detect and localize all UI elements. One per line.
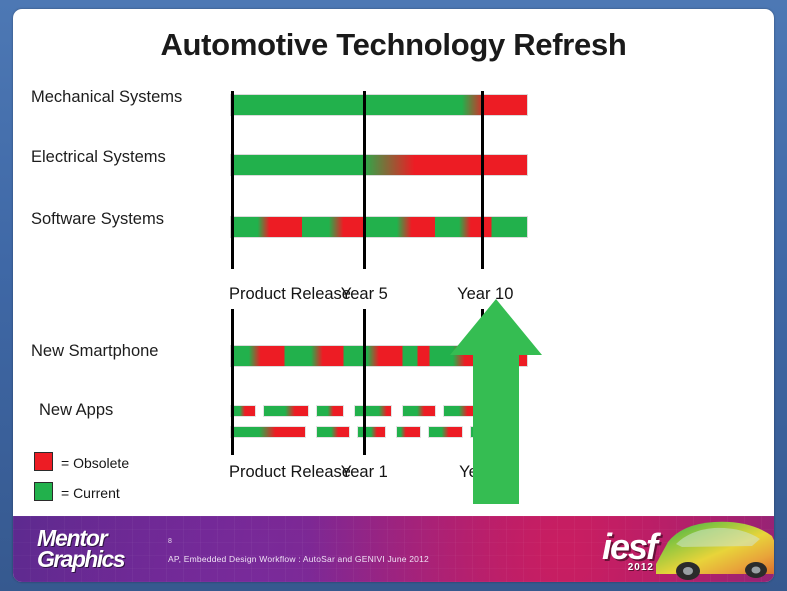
timeline-chart: Mechanical SystemsElectrical SystemsSoft…	[13, 9, 774, 582]
new-apps-segment-1-0	[231, 406, 255, 416]
axis-line-lower-1	[363, 309, 366, 455]
new-apps-segment-2-1	[317, 427, 350, 437]
new-apps-segment-2-0	[231, 427, 305, 437]
legend-label-obsolete: = Obsolete	[61, 455, 129, 471]
row-label-new-apps: New Apps	[39, 401, 113, 420]
axis-line-lower-0	[231, 309, 234, 455]
new-apps-segment-1-2	[317, 406, 344, 416]
axis-label-lower-1: Year 1	[341, 463, 388, 482]
new-apps-segment-1-1	[264, 406, 308, 416]
axis-label-upper-1: Year 5	[341, 285, 388, 304]
axis-line-upper-1	[363, 91, 366, 269]
slide: Automotive Technology Refresh Mechanical…	[13, 9, 774, 582]
car-graphic	[652, 516, 774, 582]
axis-label-lower-0: Product Release	[229, 463, 351, 482]
legend-label-current: = Current	[61, 485, 120, 501]
new-apps-segment-1-4	[403, 406, 436, 416]
brand-line-2: Graphics	[37, 549, 124, 570]
up-arrow-annotation	[450, 299, 542, 504]
footer-note: AP, Embedded Design Workflow : AutoSar a…	[168, 554, 429, 564]
row-label-new-smartphone: New Smartphone	[31, 342, 158, 361]
slide-footer: Mentor Graphics 8 AP, Embedded Design Wo…	[13, 516, 774, 582]
iesf-year: 2012	[628, 562, 654, 573]
legend-swatch-current	[34, 482, 53, 501]
row-label-0: Mechanical Systems	[31, 88, 182, 107]
row-label-2: Software Systems	[31, 210, 164, 229]
mentor-graphics-logo: Mentor Graphics	[37, 528, 124, 570]
axis-line-upper-2	[481, 91, 484, 269]
legend-swatch-obsolete	[34, 452, 53, 471]
new-apps-segment-2-3	[397, 427, 421, 437]
axis-line-upper-0	[231, 91, 234, 269]
row-label-1: Electrical Systems	[31, 148, 166, 167]
slide-frame: Automotive Technology Refresh Mechanical…	[0, 0, 787, 591]
page-number: 8	[168, 538, 172, 545]
new-apps-segment-1-3	[355, 406, 391, 416]
axis-label-upper-0: Product Release	[229, 285, 351, 304]
